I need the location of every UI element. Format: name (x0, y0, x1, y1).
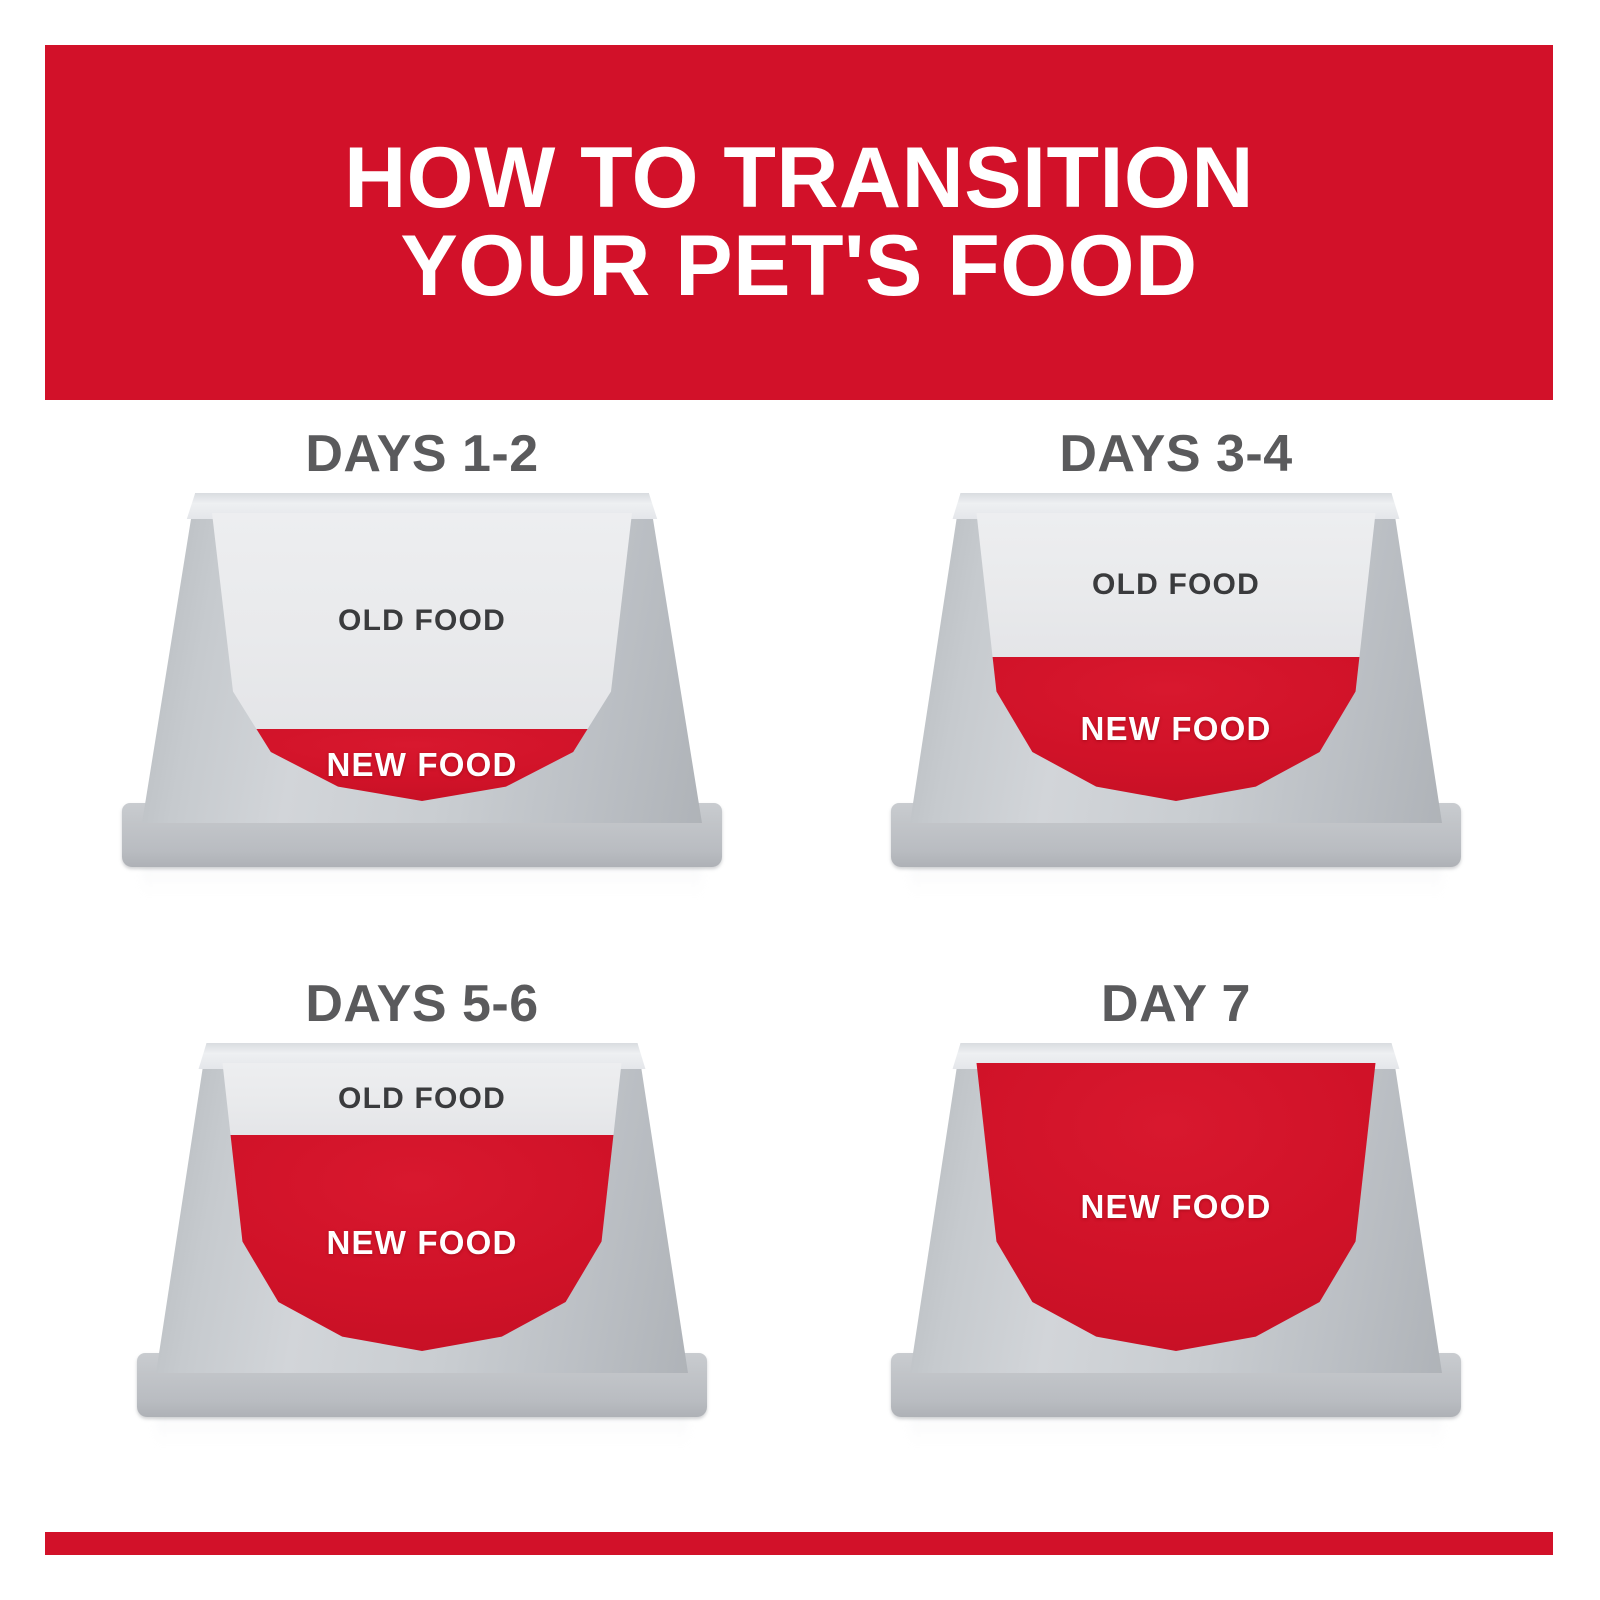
food-bowl-days-5-6: OLD FOOD NEW FOOD (122, 1043, 722, 1443)
header-banner: HOW TO TRANSITION YOUR PET'S FOOD (45, 45, 1553, 400)
transition-steps-grid: DAYS 1-2 OLD FOOD NEW FOOD DAYS 3-4 (45, 415, 1553, 1515)
old-food-portion: OLD FOOD (223, 1063, 622, 1135)
new-food-label: NEW FOOD (326, 746, 517, 784)
panel-title-day-7: DAY 7 (1101, 965, 1251, 1043)
panel-title-days-5-6: DAYS 5-6 (305, 965, 538, 1043)
panel-days-5-6: DAYS 5-6 OLD FOOD NEW FOOD (45, 965, 799, 1515)
food-bowl-days-3-4: OLD FOOD NEW FOOD (876, 493, 1476, 893)
panel-title-days-1-2: DAYS 1-2 (305, 415, 538, 493)
footer-accent-bar (45, 1532, 1553, 1555)
old-food-portion: OLD FOOD (212, 513, 632, 729)
panel-days-3-4: DAYS 3-4 OLD FOOD NEW FOOD (799, 415, 1553, 965)
food-bowl-day-7: NEW FOOD (876, 1043, 1476, 1443)
old-food-portion: OLD FOOD (977, 513, 1376, 657)
panel-days-1-2: DAYS 1-2 OLD FOOD NEW FOOD (45, 415, 799, 965)
old-food-label: OLD FOOD (338, 1082, 506, 1116)
food-bowl-days-1-2: OLD FOOD NEW FOOD (122, 493, 722, 893)
page-title: HOW TO TRANSITION YOUR PET'S FOOD (314, 135, 1284, 310)
old-food-label: OLD FOOD (1092, 568, 1260, 602)
new-food-label: NEW FOOD (326, 1224, 517, 1262)
panel-day-7: DAY 7 NEW FOOD (799, 965, 1553, 1515)
new-food-label: NEW FOOD (1080, 1188, 1271, 1226)
old-food-label: OLD FOOD (338, 604, 506, 638)
panel-title-days-3-4: DAYS 3-4 (1059, 415, 1292, 493)
new-food-label: NEW FOOD (1080, 710, 1271, 748)
